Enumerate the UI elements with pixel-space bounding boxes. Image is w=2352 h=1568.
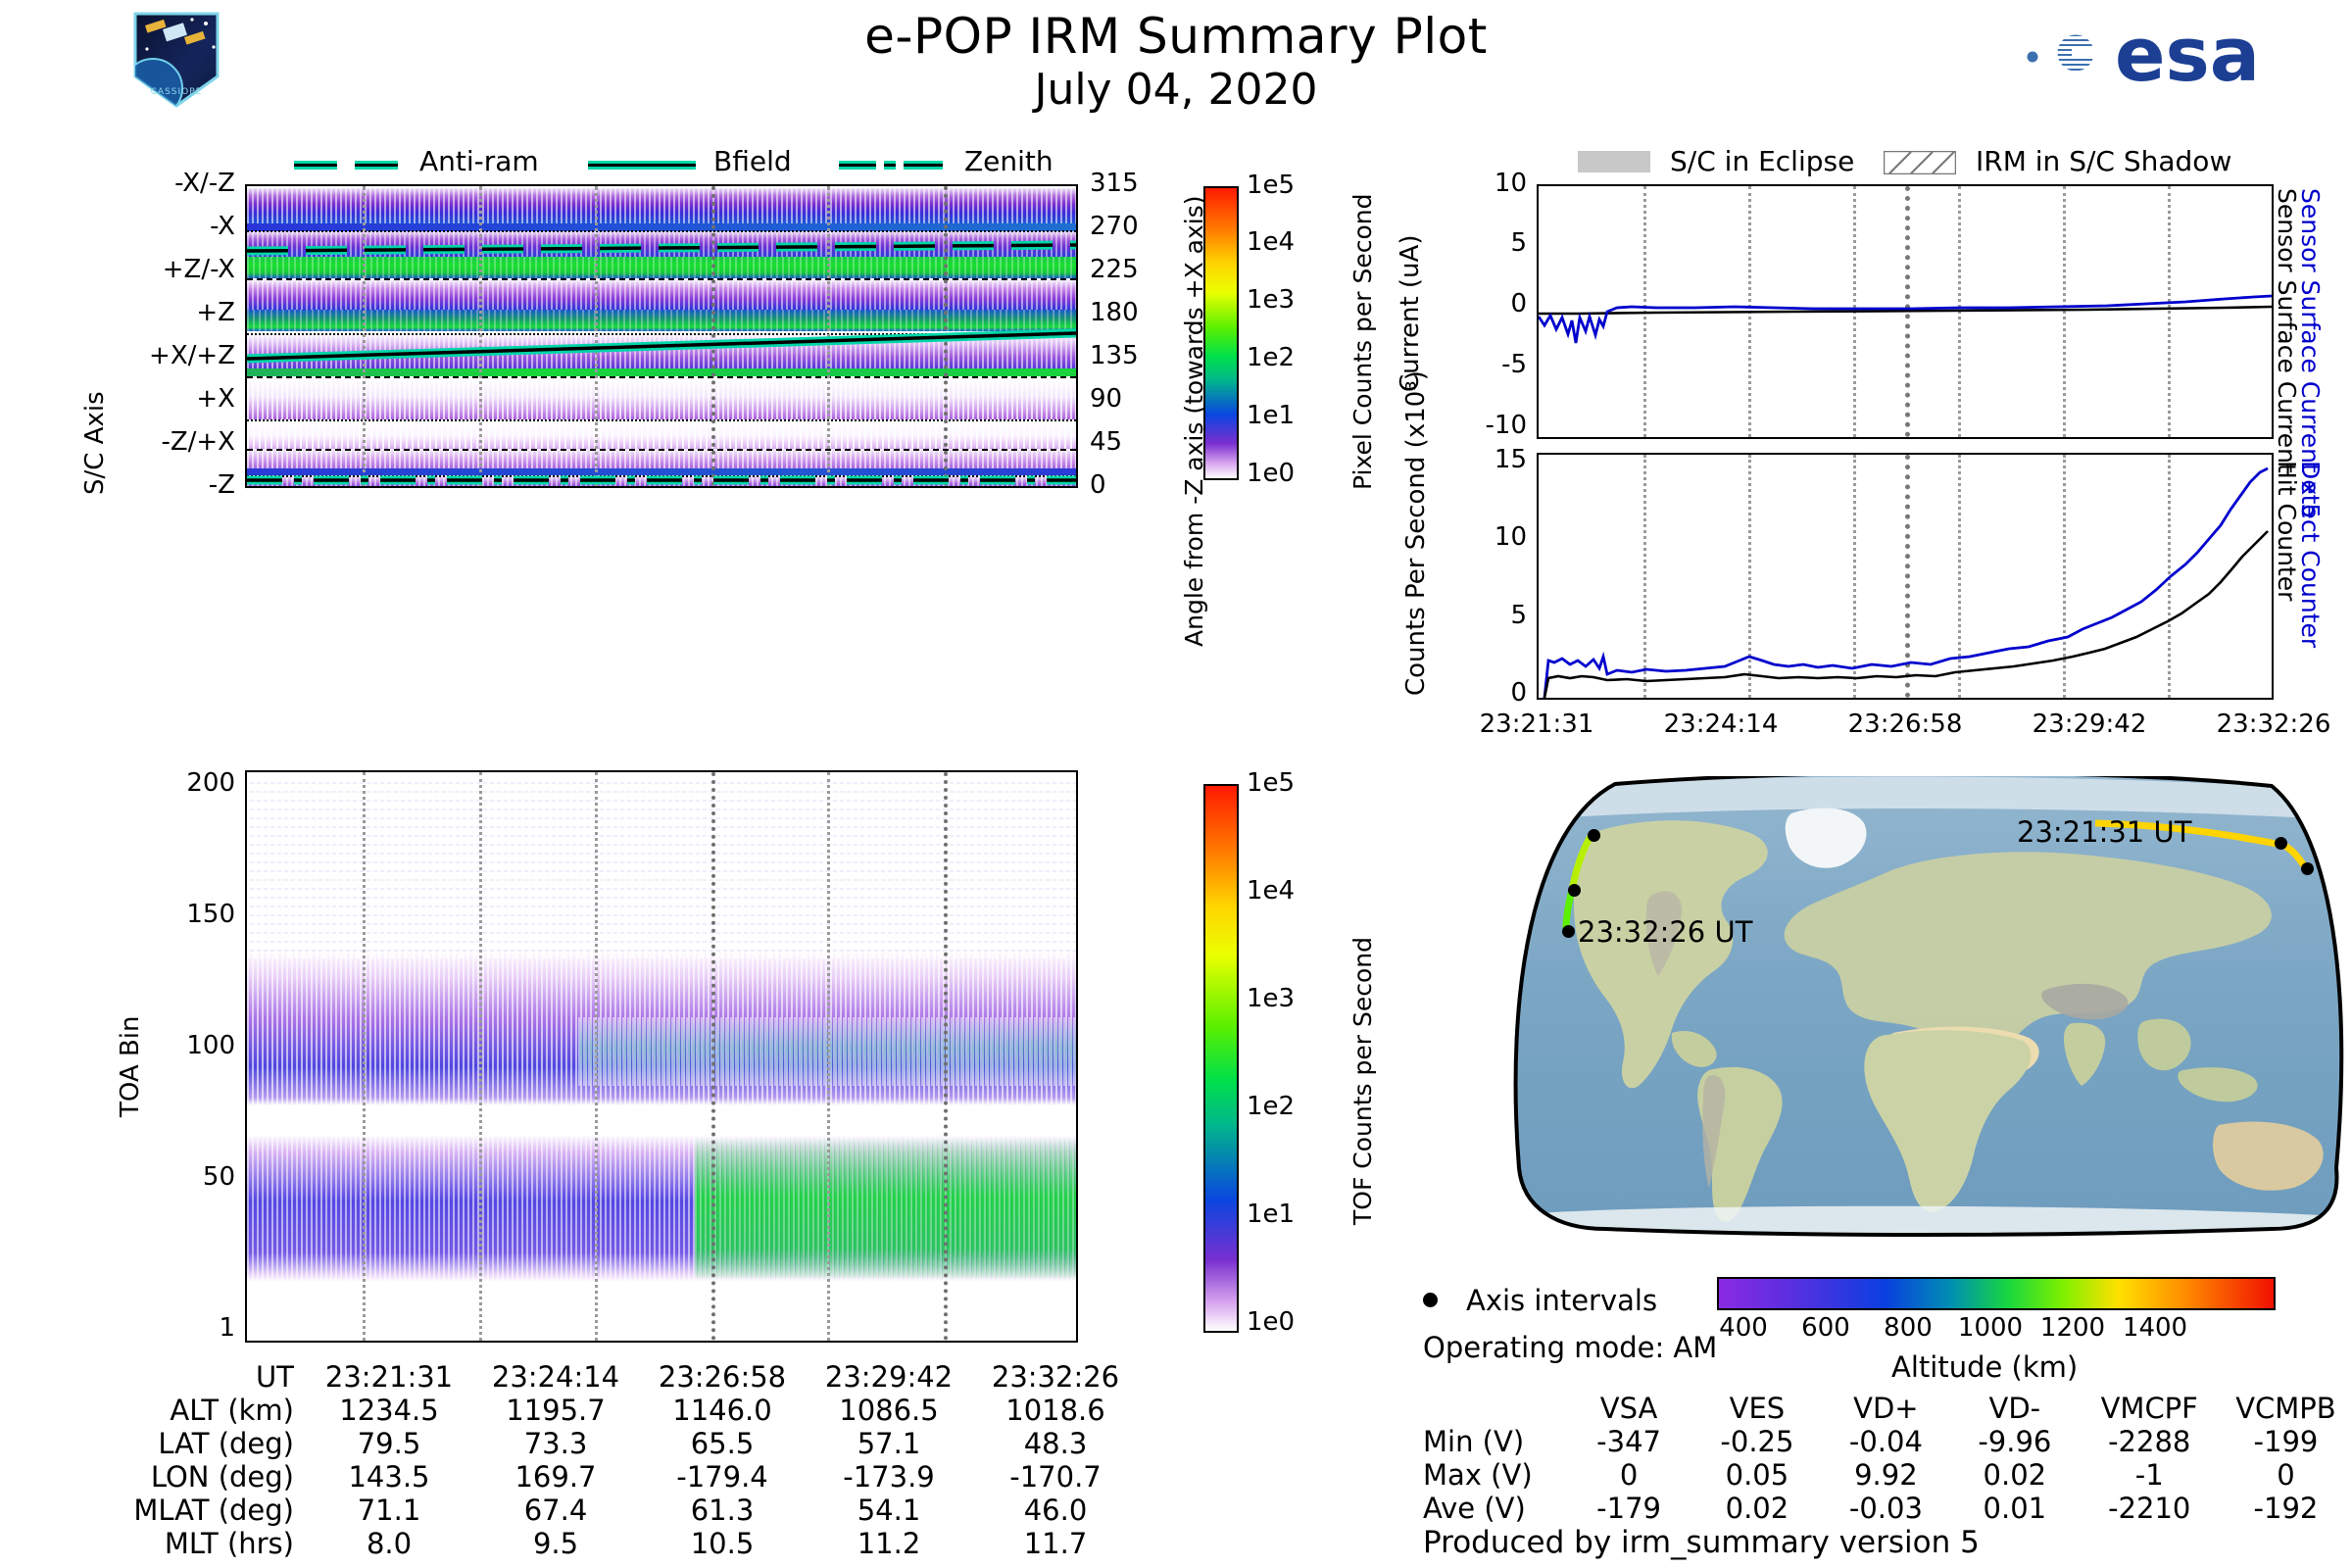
panel-angle-ytick-2: +Z/-X: [163, 255, 235, 284]
cell: 8.0: [306, 1527, 472, 1560]
esa-logo: esa: [1999, 8, 2332, 98]
panel-counts-traces: [1539, 455, 2272, 698]
panel-current-ytick-m5: -5: [1501, 350, 1527, 379]
legend-swatch-zenith-icon: [839, 155, 947, 164]
cbar2-tick-1e2: 1e2: [1247, 1092, 1295, 1121]
gridline-v: [479, 772, 482, 1341]
gridline-v: [363, 772, 366, 1341]
voltage-table: VSA VES VD+ VD- VMCPF VCMPB Min (V) -347…: [1423, 1392, 2352, 1525]
altitude-colorbar-ticks: 400 600 800 1000 1200 1400: [1717, 1313, 2276, 1352]
cell: -179.4: [639, 1460, 806, 1494]
cell: 23:29:42: [806, 1360, 972, 1394]
panel-counts-right-labels: Detect Counter Hit Counter: [2279, 461, 2348, 706]
legend-swatch-sc-in-eclipse-icon: [1578, 151, 1650, 172]
panel-counts-xtick-2: 23:26:58: [1821, 710, 1989, 739]
table-row: MLT (hrs) 8.0 9.5 10.5 11.2 11.7: [108, 1527, 1139, 1560]
axis-interval-legend-label: Axis intervals: [1466, 1284, 1657, 1317]
panel-angle-ytick-3: +Z: [196, 298, 235, 327]
tof-counts-colorbar-label: TOF Counts per Second: [1348, 937, 1377, 1225]
cell: 0.02: [1692, 1492, 1821, 1525]
cell: 0.02: [1950, 1458, 2079, 1492]
cell: 9.5: [472, 1527, 639, 1560]
track-interval-dot: [2275, 837, 2287, 850]
altitude-colorbar-label: Altitude (km): [1891, 1350, 2078, 1384]
toa-band-lower-enhanced: [695, 1137, 1076, 1280]
cell: -0.04: [1822, 1425, 1950, 1458]
cell: 46.0: [972, 1494, 1139, 1527]
panel-angle-angle-tick-135: 135: [1090, 341, 1139, 370]
cbar1-tick-1e0: 1e0: [1247, 459, 1295, 488]
cell: 65.5: [639, 1427, 806, 1460]
voltage-col-vsa: VSA: [1565, 1392, 1692, 1425]
cell: -179: [1565, 1492, 1692, 1525]
voltage-row-label-min: Min (V): [1423, 1425, 1565, 1458]
cell: 73.3: [472, 1427, 639, 1460]
panel-current-ytick-m10: -10: [1486, 411, 1527, 440]
panel-angle-ytick-7: -Z: [209, 470, 235, 500]
cell: -347: [1565, 1425, 1692, 1458]
cbar1-tick-1e5: 1e5: [1247, 171, 1295, 200]
voltage-col-vcmpb: VCMPB: [2220, 1392, 2352, 1425]
table-row: LON (deg) 143.5 169.7 -179.4 -173.9 -170…: [108, 1460, 1139, 1494]
cell: 57.1: [806, 1427, 972, 1460]
panel-counts-ytick-0: 0: [1510, 678, 1527, 708]
table-row: Max (V) 0 0.05 9.92 0.02 -1 0: [1423, 1458, 2352, 1492]
pixel-counts-colorbar-ticks: 1e5 1e4 1e3 1e2 1e1 1e0: [1247, 186, 1364, 480]
panel-toa-yticks: 200 150 100 50 1: [108, 784, 235, 1343]
cbar2-tick-1e5: 1e5: [1247, 768, 1295, 798]
panel-current-right-label-black: Sensor Surface Current: [2273, 188, 2301, 473]
cell: 1018.6: [972, 1394, 1139, 1427]
cell: 1146.0: [639, 1394, 806, 1427]
altitude-colorbar: [1717, 1277, 2276, 1310]
cell: 9.92: [1822, 1458, 1950, 1492]
cell: -0.25: [1692, 1425, 1821, 1458]
gridline-v: [944, 772, 948, 1341]
panel-current-ytick-5: 5: [1510, 228, 1527, 258]
pixel-counts-colorbar-label: Pixel Counts per Second: [1348, 194, 1377, 490]
axis-interval-dot-icon: [1423, 1293, 1438, 1307]
panel-angle-ytick-6: -Z/+X: [161, 427, 235, 457]
cell: 143.5: [306, 1460, 472, 1494]
tof-counts-colorbar-ticks: 1e5 1e4 1e3 1e2 1e1 1e0: [1247, 784, 1364, 1333]
legend-label-sc-in-eclipse: S/C in Eclipse: [1670, 145, 1854, 177]
track-interval-dot: [2301, 862, 2314, 875]
gridline-v: [827, 772, 830, 1341]
operating-mode-label: Operating mode: AM: [1423, 1331, 1717, 1364]
esa-logo-text: esa: [2115, 11, 2260, 98]
cell: 23:24:14: [472, 1360, 639, 1394]
legend-label-zenith: Zenith: [964, 145, 1053, 177]
panel-counts-right-label-black: Hit Counter: [2273, 461, 2301, 601]
panel-angle-angle-tick-45: 45: [1090, 427, 1122, 457]
cbar1-tick-1e3: 1e3: [1247, 285, 1295, 315]
footer-produced-by: Produced by irm_summary version 5: [1423, 1525, 1980, 1560]
panel-current-right-labels: Sensor Surface Current x 5 Sensor Surfac…: [2279, 188, 2348, 443]
panel-angle-ytick-0: -X/-Z: [174, 169, 235, 198]
cell: 11.2: [806, 1527, 972, 1560]
table-row: ALT (km) 1234.5 1195.7 1146.0 1086.5 101…: [108, 1394, 1139, 1427]
cell: 1234.5: [306, 1394, 472, 1427]
cell: 11.7: [972, 1527, 1139, 1560]
row-label-ut: UT: [108, 1360, 306, 1394]
cbar2-tick-1e1: 1e1: [1247, 1200, 1295, 1229]
cell: 0.01: [1950, 1492, 2079, 1525]
panel-current-plot-area[interactable]: [1537, 184, 2274, 439]
panel-angle-angle-tick-270: 270: [1090, 212, 1139, 241]
row-label-alt: ALT (km): [108, 1394, 306, 1427]
table-row: Ave (V) -179 0.02 -0.03 0.01 -2210 -192: [1423, 1492, 2352, 1525]
voltage-col-vdm: VD-: [1950, 1392, 2079, 1425]
panel-angle-overlay-traces: [247, 186, 1076, 486]
row-label-mlat: MLAT (deg): [108, 1494, 306, 1527]
cell: 0: [2220, 1458, 2352, 1492]
voltage-col-ves: VES: [1692, 1392, 1821, 1425]
track-interval-dot: [1588, 829, 1600, 842]
cell: 71.1: [306, 1494, 472, 1527]
cell: -2210: [2080, 1492, 2220, 1525]
gridline-v: [711, 772, 715, 1341]
track-interval-dot: [1562, 925, 1575, 938]
panel-counts-xticks: 23:21:31 23:24:14 23:26:58 23:29:42 23:3…: [1537, 710, 2274, 749]
legend-label-anti-ram: Anti-ram: [419, 145, 539, 177]
panel-angle-legend: Anti-ram Bfield Zenith: [294, 145, 1039, 178]
cell: -0.03: [1822, 1492, 1950, 1525]
cell: 79.5: [306, 1427, 472, 1460]
cell: 61.3: [639, 1494, 806, 1527]
panel-toa-ytick-1: 1: [219, 1313, 235, 1343]
altbar-tick-1400: 1400: [2101, 1313, 2209, 1343]
panel-counts-ytick-15: 15: [1494, 445, 1527, 474]
table-row: Min (V) -347 -0.25 -0.04 -9.96 -2288 -19…: [1423, 1425, 2352, 1458]
panel-counts-plot-area[interactable]: [1537, 453, 2274, 700]
table-row: LAT (deg) 79.5 73.3 65.5 57.1 48.3: [108, 1427, 1139, 1460]
cell: -2288: [2080, 1425, 2220, 1458]
panel-counts-ytick-10: 10: [1494, 522, 1527, 552]
cbar1-tick-1e2: 1e2: [1247, 343, 1295, 372]
cell: -173.9: [806, 1460, 972, 1494]
panel-angle-ytick-1: -X: [210, 212, 235, 241]
panel-current-legend: S/C in Eclipse IRM in S/C Shadow: [1578, 145, 2342, 178]
cell: 169.7: [472, 1460, 639, 1494]
panel-angle-angle-tick-225: 225: [1090, 255, 1139, 284]
panel-angle-left-ticks: -X/-Z -X +Z/-X +Z +X/+Z +X -Z/+X -Z: [98, 182, 235, 482]
legend-swatch-bfield-icon: [588, 155, 696, 164]
table-row: UT 23:21:31 23:24:14 23:26:58 23:29:42 2…: [108, 1360, 1139, 1394]
cell: 54.1: [806, 1494, 972, 1527]
toa-speckle: [247, 782, 1076, 958]
gridline-v: [595, 772, 598, 1341]
panel-counts-yticks: 15 10 5 0: [1419, 461, 1527, 706]
panel-angle-ytick-4: +X/+Z: [149, 341, 235, 370]
cbar2-tick-1e0: 1e0: [1247, 1307, 1295, 1337]
voltage-col-vmcpf: VMCPF: [2080, 1392, 2220, 1425]
track-interval-dot: [1568, 884, 1581, 897]
panel-counts-xtick-3: 23:29:42: [2005, 710, 2174, 739]
panel-toa-ytick-50: 50: [203, 1162, 235, 1192]
cbar1-tick-1e4: 1e4: [1247, 227, 1295, 257]
cell: 23:21:31: [306, 1360, 472, 1394]
cell: -1: [2080, 1458, 2220, 1492]
cell: 0.05: [1692, 1458, 1821, 1492]
cassiope-mission-badge-icon: CASSIOPE: [123, 4, 229, 110]
cbar2-tick-1e4: 1e4: [1247, 876, 1295, 906]
panel-counts-xtick-4: 23:32:26: [2189, 710, 2352, 739]
row-label-mlt: MLT (hrs): [108, 1527, 306, 1560]
cell: -192: [2220, 1492, 2352, 1525]
cbar1-tick-1e1: 1e1: [1247, 401, 1295, 430]
cell: -170.7: [972, 1460, 1139, 1494]
panel-toa-ytick-100: 100: [186, 1031, 235, 1060]
panel-angle-angle-tick-90: 90: [1090, 384, 1122, 414]
cell: -199: [2220, 1425, 2352, 1458]
legend-label-irm-in-shadow: IRM in S/C Shadow: [1976, 145, 2231, 177]
cassiope-badge-text: CASSIOPE: [151, 87, 203, 97]
cell: 10.5: [639, 1527, 806, 1560]
panel-angle-plot-area[interactable]: [245, 184, 1078, 488]
panel-counts-xtick-1: 23:24:14: [1637, 710, 1805, 739]
legend-swatch-anti-ram-icon: [294, 155, 402, 164]
panel-current-traces: [1539, 186, 2272, 437]
ground-track-map[interactable]: 23:21:31 UT 23:32:26 UT: [1497, 776, 2352, 1237]
table-header-row: VSA VES VD+ VD- VMCPF VCMPB: [1423, 1392, 2352, 1425]
row-label-lat: LAT (deg): [108, 1427, 306, 1460]
panel-current-ytick-0: 0: [1510, 289, 1527, 318]
panel-angle-angle-tick-315: 315: [1090, 169, 1139, 198]
panel-toa-plot-area[interactable]: [245, 770, 1078, 1343]
ephemeris-table: UT 23:21:31 23:24:14 23:26:58 23:29:42 2…: [108, 1360, 1139, 1560]
panel-angle-angle-tick-0: 0: [1090, 470, 1106, 500]
pixel-counts-colorbar: [1203, 186, 1239, 480]
cell: 23:32:26: [972, 1360, 1139, 1394]
legend-label-bfield: Bfield: [713, 145, 792, 177]
cell: -9.96: [1950, 1425, 2079, 1458]
voltage-row-label-max: Max (V): [1423, 1458, 1565, 1492]
panel-current-ytick-10: 10: [1494, 169, 1527, 198]
voltage-row-label-ave: Ave (V): [1423, 1492, 1565, 1525]
voltage-col-vdp: VD+: [1822, 1392, 1950, 1425]
cell: 48.3: [972, 1427, 1139, 1460]
cell: 1195.7: [472, 1394, 639, 1427]
cell: 67.4: [472, 1494, 639, 1527]
map-end-time-label: 23:32:26 UT: [1578, 915, 1752, 949]
cell: 23:26:58: [639, 1360, 806, 1394]
tof-counts-colorbar: [1203, 784, 1239, 1333]
panel-toa-ytick-150: 150: [186, 900, 235, 929]
panel-counts-xtick-0: 23:21:31: [1452, 710, 1621, 739]
panel-angle-ytick-5: +X: [196, 384, 235, 414]
panel-toa-ytick-200: 200: [186, 768, 235, 798]
cell: 1086.5: [806, 1394, 972, 1427]
cell: 0: [1565, 1458, 1692, 1492]
map-start-time-label: 23:21:31 UT: [2017, 815, 2191, 849]
table-row: MLAT (deg) 71.1 67.4 61.3 54.1 46.0: [108, 1494, 1139, 1527]
row-label-lon: LON (deg): [108, 1460, 306, 1494]
panel-current-yticks: 10 5 0 -5 -10: [1419, 184, 1527, 425]
legend-swatch-irm-in-shadow-icon: [1884, 151, 1956, 174]
panel-counts-ytick-5: 5: [1510, 601, 1527, 630]
panel-angle-angle-tick-180: 180: [1090, 298, 1139, 327]
cbar2-tick-1e3: 1e3: [1247, 984, 1295, 1013]
